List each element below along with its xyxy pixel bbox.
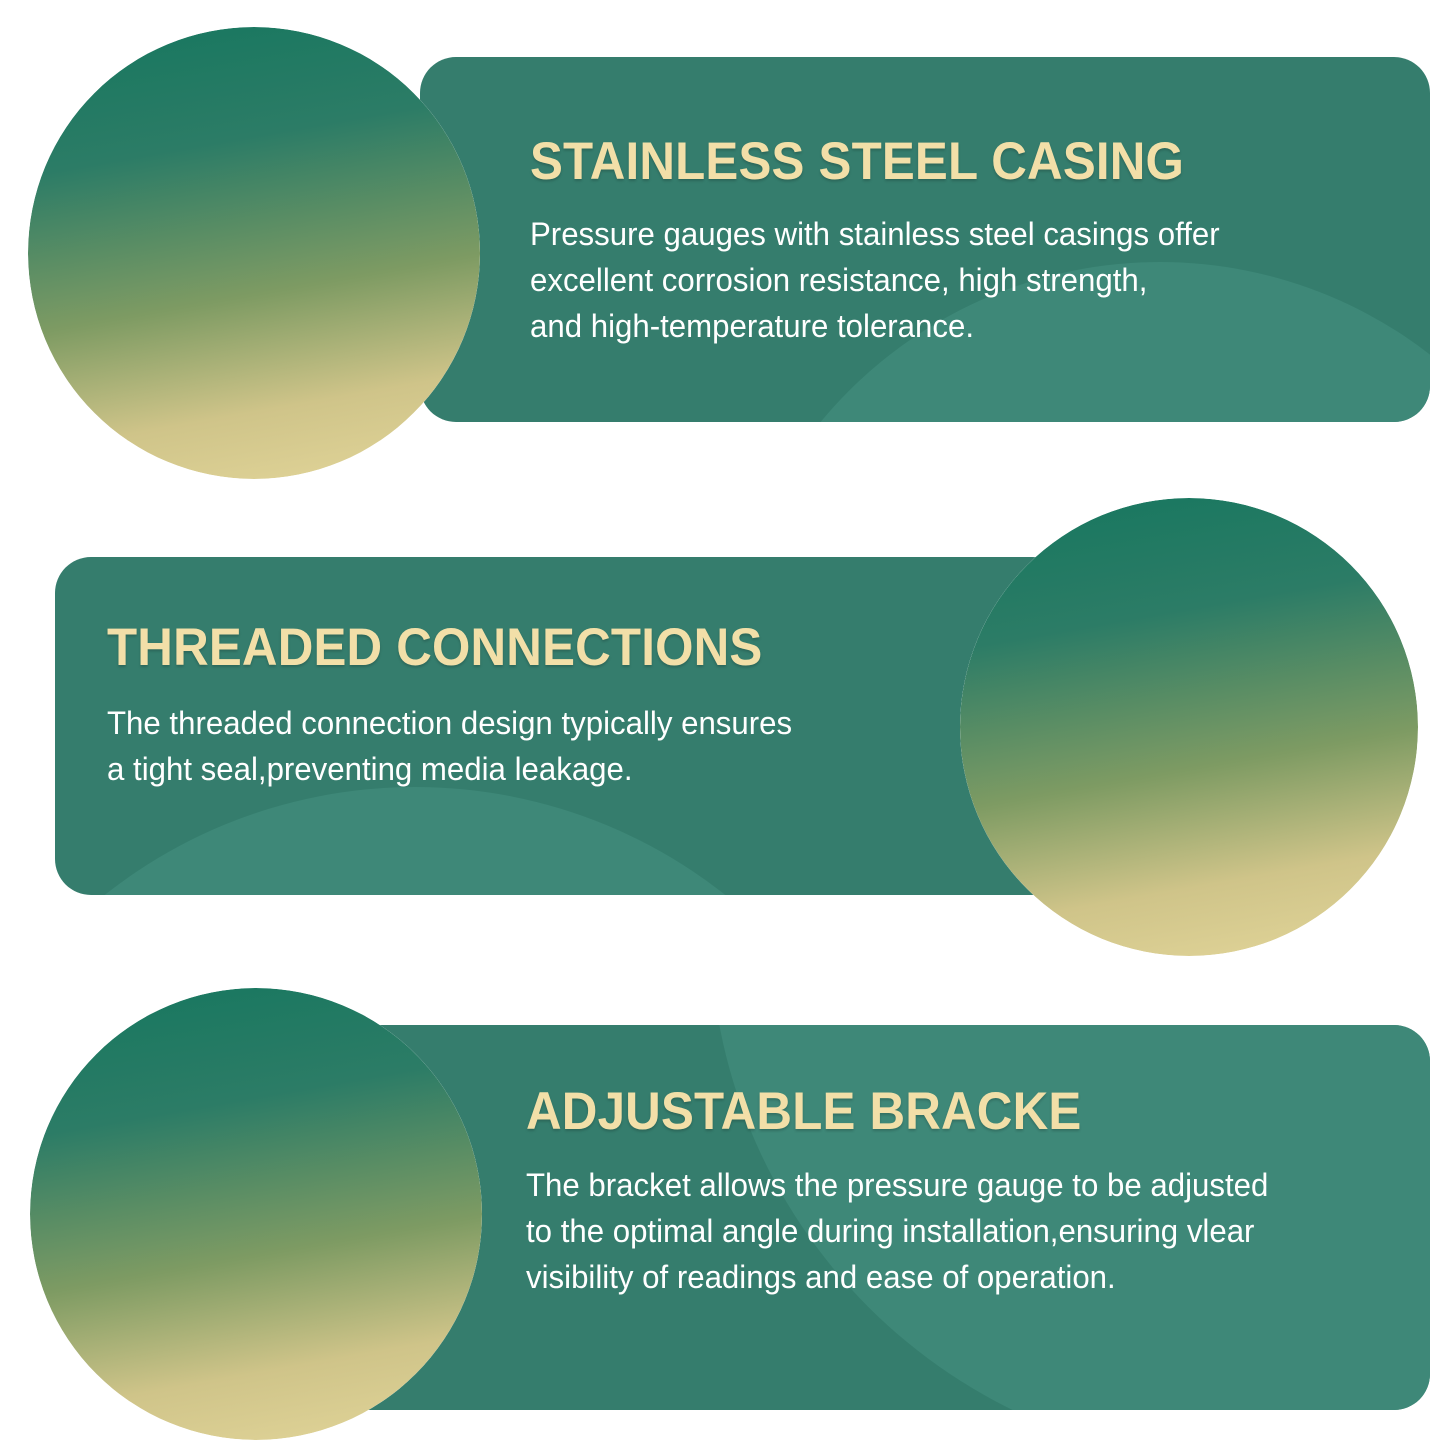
infographic-page: STAINLESS STEEL CASING Pressure gauges w… bbox=[0, 0, 1445, 1445]
feature-body-line: Pressure gauges with stainless steel cas… bbox=[530, 211, 1394, 257]
dial-inner-label-0-5: 0.5 bbox=[163, 1284, 222, 1335]
pressure-port-bore bbox=[1302, 608, 1330, 636]
feature-body-line: a tight seal,preventing media leakage. bbox=[107, 746, 1030, 792]
feature-heading: STAINLESS STEEL CASING bbox=[530, 133, 1367, 190]
feature-body-line: and high-temperature tolerance. bbox=[530, 303, 1394, 349]
dial-outer-label-15: 15 bbox=[227, 1101, 277, 1151]
feature-body-line: The bracket allows the pressure gauge to… bbox=[526, 1162, 1394, 1208]
feature-panel-content: THREADED CONNECTIONS The threaded connec… bbox=[55, 557, 1068, 792]
feature-image-gauge-dial-face: 15 20 0.5 1 1.5 bbox=[30, 988, 482, 1440]
feature-panel-threaded-connections: THREADED CONNECTIONS The threaded connec… bbox=[55, 557, 1068, 895]
image-stage: AFTER INSTALLA CUT TOP OF CA bbox=[32, 31, 476, 475]
image-stage: 15 20 0.5 1 1.5 bbox=[34, 992, 478, 1436]
feature-body-line: The threaded connection design typically… bbox=[107, 700, 1030, 746]
feature-image-brass-threaded-fitting bbox=[960, 498, 1418, 956]
feature-body-line: to the optimal angle during installation… bbox=[526, 1208, 1394, 1254]
feature-image-gauge-back-stainless: AFTER INSTALLA CUT TOP OF CA bbox=[28, 27, 480, 479]
feature-panel-stainless-steel-casing: STAINLESS STEEL CASING Pressure gauges w… bbox=[420, 57, 1430, 422]
feature-body-line: excellent corrosion resistance, high str… bbox=[530, 257, 1394, 303]
gauge-dial-photo: 15 20 0.5 1 1.5 bbox=[34, 992, 478, 1436]
gauge-back-photo: AFTER INSTALLA CUT TOP OF CA bbox=[48, 34, 476, 475]
feature-panel-content: STAINLESS STEEL CASING Pressure gauges w… bbox=[420, 57, 1430, 349]
feature-body: The threaded connection design typically… bbox=[107, 700, 1030, 792]
brass-fitting-photo bbox=[964, 502, 1414, 952]
feature-heading: ADJUSTABLE BRACKE bbox=[526, 1083, 1367, 1140]
dial-inner-label-1: 1 bbox=[255, 1193, 279, 1237]
feature-body: Pressure gauges with stainless steel cas… bbox=[530, 211, 1394, 349]
feature-body: The bracket allows the pressure gauge to… bbox=[526, 1162, 1394, 1300]
feature-heading: THREADED CONNECTIONS bbox=[107, 619, 1001, 676]
panel-background-wash bbox=[55, 787, 915, 895]
feature-body-line: visibility of readings and ease of opera… bbox=[526, 1254, 1394, 1300]
image-stage bbox=[964, 502, 1414, 952]
